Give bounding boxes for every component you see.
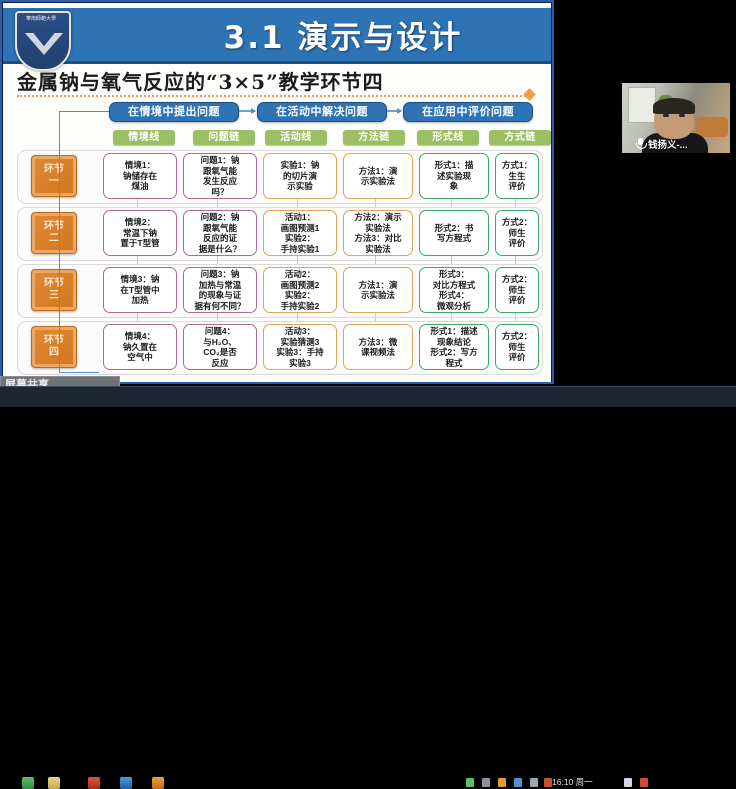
university-crest-icon: 華南師範大學 [11,9,73,71]
tray-icon-6[interactable] [624,778,632,787]
cell-r3-c3: 方法3：微 课视频法 [343,324,413,370]
participant-name: 钱扬义-... [648,137,688,151]
cell-r2-c2: 活动2： 画图预测2 实验2： 手持实验2 [263,267,337,313]
cell-r3-c4: 形式1：描述 现象结论 形式2：写方 程式 [419,324,489,370]
phase-arrow-0 [239,110,255,112]
line-pill-0: 情境线 [113,130,175,145]
slide-subtitle: 金属钠与氧气反应的“3×5”教学环节四 [17,66,537,95]
connector-line [375,199,376,207]
tray-icon-4[interactable] [530,778,538,787]
tray-icon-0[interactable] [466,778,474,787]
connector-line [451,313,452,321]
taskbar-icon-3[interactable] [120,777,132,789]
cell-r3-c5: 方式2： 师生 评价 [495,324,539,370]
connector-line [297,313,298,321]
line-pill-5: 方式链 [489,130,551,145]
connector-line [297,256,298,264]
taskbar-clock[interactable]: 16:10 周一 [552,776,593,788]
connector-line [515,313,516,321]
connector-line [451,256,452,264]
line-pill-2: 活动线 [265,130,327,145]
connector-line [297,199,298,207]
subtitle-divider [17,95,529,97]
flow-connector [59,372,99,373]
line-pill-4: 形式线 [417,130,479,145]
teaching-stage-grid: 环节 一情境1： 钠储存在 煤油问题1：钠 跟氧气能 发生反应 吗？实验1：钠 … [17,150,541,378]
cell-r2-c5: 方式2： 师生 评价 [495,267,539,313]
cell-r1-c1: 问题2：钠 跟氧气能 反应的证 据是什么？ [183,210,257,256]
connector-line [137,256,138,264]
connector-line [515,199,516,207]
taskbar-icon-1[interactable] [48,777,60,789]
phase-header-1: 在活动中解决问题 [257,102,387,122]
stage-badge-3: 环节 四 [31,326,77,368]
cell-r2-c1: 问题3：钠 加热与常温 的现象与证 据有何不同？ [183,267,257,313]
connector-line [137,313,138,321]
participant-name-bar: 钱扬义-... [622,134,730,153]
stage-badge-1: 环节 二 [31,212,77,254]
cell-r1-c0: 情境2： 常温下钠 置于T型管 [103,210,177,256]
microphone-icon [636,138,645,150]
cell-r1-c5: 方式2： 师生 评价 [495,210,539,256]
cell-r2-c4: 形式3： 对比方程式 形式4： 微观分析 [419,267,489,313]
connector-line [217,256,218,264]
cell-r2-c0: 情境3：钠 在T型管中 加热 [103,267,177,313]
stage-badge-0: 环节 一 [31,155,77,197]
cell-r0-c3: 方法1：演 示实验法 [343,153,413,199]
phase-header-2: 在应用中评价问题 [403,102,533,122]
tray-icon-2[interactable] [498,778,506,787]
phase-arrow-1 [387,110,401,112]
taskbar-icon-2[interactable] [88,777,100,789]
connector-line [451,199,452,207]
cell-r3-c2: 活动3： 实验猜测3 实验3：手持 实验3 [263,324,337,370]
phase-header-0: 在情境中提出问题 [109,102,239,122]
cell-r2-c3: 方法1：演 示实验法 [343,267,413,313]
cell-r0-c2: 实验1：钠 的切片演 示实验 [263,153,337,199]
tray-icon-7[interactable] [640,778,648,787]
screen: 3.1 演示与设计 華南師範大學 金属钠与氧气反应的“3×5”教学环节四 在情境… [0,0,736,406]
cell-r1-c2: 活动1： 画图预测1 实验2： 手持实验1 [263,210,337,256]
tray-icon-3[interactable] [514,778,522,787]
connector-line [137,199,138,207]
cell-r3-c1: 问题4： 与H₂O、 CO₂是否 反应 [183,324,257,370]
line-pill-3: 方法链 [343,130,405,145]
cell-r0-c5: 方式1： 生生 评价 [495,153,539,199]
flow-connector [59,111,60,373]
taskbar-icon-4[interactable] [152,777,164,789]
connector-line [515,256,516,264]
taskbar-icon-0[interactable] [22,777,34,789]
connector-line [217,313,218,321]
cell-r3-c0: 情境4： 钠久置在 空气中 [103,324,177,370]
cell-r0-c4: 形式1：描 述实验现 象 [419,153,489,199]
tray-icon-1[interactable] [482,778,490,787]
cell-r0-c1: 问题1：钠 跟氧气能 发生反应 吗？ [183,153,257,199]
tray-icon-5[interactable] [544,778,552,787]
taskbar: 16:10 周一 [0,386,736,407]
cell-r1-c3: 方法2：演示 实验法 方法3：对比 实验法 [343,210,413,256]
cell-r1-c4: 形式2：书 写方程式 [419,210,489,256]
connector-line [217,199,218,207]
screen-share-region: 3.1 演示与设计 華南師範大學 金属钠与氧气反应的“3×5”教学环节四 在情境… [0,0,556,406]
cell-r0-c0: 情境1： 钠储存在 煤油 [103,153,177,199]
slide-title: 3.1 演示与设计 [143,12,543,57]
connector-line [375,256,376,264]
flow-connector [59,111,109,112]
connector-line [375,313,376,321]
video-panel: 钱扬义-... [556,0,736,384]
line-pill-1: 问题链 [193,130,255,145]
presentation-slide: 3.1 演示与设计 華南師範大學 金属钠与氧气反应的“3×5”教学环节四 在情境… [2,2,552,384]
stage-badge-2: 环节 三 [31,269,77,311]
